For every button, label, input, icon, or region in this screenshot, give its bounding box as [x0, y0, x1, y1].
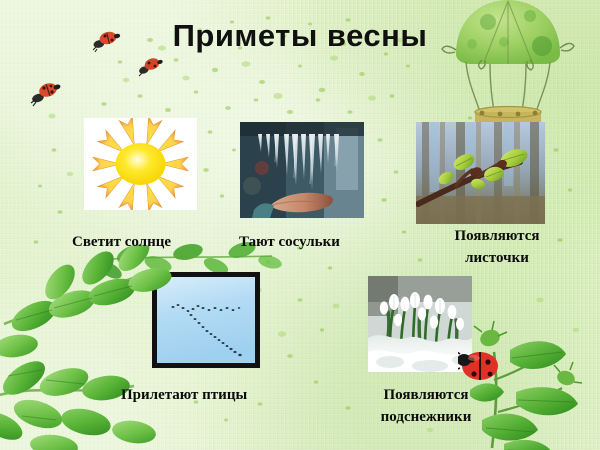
sun-illustration-icon	[84, 118, 197, 210]
caption-snowdrops: Появляются подснежники	[356, 385, 496, 429]
image-icicles	[240, 122, 364, 218]
caption-buds-line2: листочки	[437, 248, 557, 270]
caption-icicles: Тают сосульки	[239, 232, 340, 254]
snowdrops-in-snow-photo-icon	[368, 276, 472, 372]
ladybug-top-left-icon	[28, 78, 62, 108]
ladybug-near-title-icon	[136, 55, 164, 81]
melting-icicles-photo-icon	[240, 122, 364, 218]
page-title: Приметы весны	[0, 18, 600, 54]
caption-snowdrops-line2: подснежники	[356, 407, 496, 429]
image-birds	[152, 272, 260, 368]
image-sun	[84, 118, 197, 210]
caption-buds: Появляются листочки	[437, 226, 557, 270]
slide-canvas: Приметы весны	[0, 0, 600, 450]
paper-texture-vertical	[0, 0, 600, 450]
caption-sun: Светит солнце	[72, 232, 171, 254]
caption-birds: Прилетают птицы	[121, 385, 247, 407]
migrating-birds-photo-icon	[157, 277, 255, 363]
caption-buds-line1: Появляются	[437, 226, 557, 248]
tree-buds-photo-icon	[416, 122, 545, 224]
green-speckle-texture	[0, 0, 600, 450]
image-buds	[416, 122, 545, 224]
image-snowdrops	[368, 276, 472, 372]
caption-snowdrops-line1: Появляются	[356, 385, 496, 407]
paper-texture-blotches	[0, 0, 600, 450]
paper-texture-horizontal	[0, 0, 600, 450]
